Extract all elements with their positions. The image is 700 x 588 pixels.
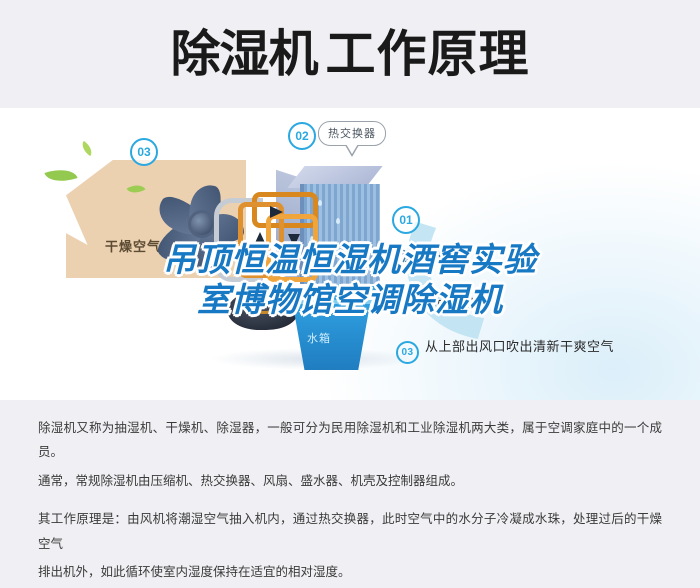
step-description-03-text: 从上部出风口吹出清新干爽空气 — [425, 339, 614, 354]
body-copy: 除湿机又称为抽湿机、干燥机、除湿器，一般可分为民用除湿机和工业除湿机两大类，属于… — [0, 400, 700, 588]
page-title-part2: 工作原理 — [326, 25, 530, 83]
step-badge-03: 03 — [130, 138, 158, 166]
flow-arrow-right-icon — [270, 206, 283, 218]
paragraph-gap — [38, 497, 662, 507]
step-badge-01: 01 — [392, 206, 420, 234]
compressor-ring — [246, 294, 282, 314]
step-description-02-text: 器冷凝成水珠 — [396, 297, 477, 312]
condensation-droplet-icon — [344, 248, 348, 254]
heat-exchanger-callout: 热交换器 — [318, 121, 386, 146]
dehumidifier-principle-illustration: 干燥空气 潮湿空气 水箱 03 02 01 热交换器 — [0, 108, 700, 400]
condensation-droplet-icon — [324, 264, 328, 270]
condensation-droplet-icon — [336, 218, 340, 224]
step-inline-badge-03: 03 — [396, 341, 419, 364]
paragraph-1-line-1: 除湿机又称为抽湿机、干燥机、除湿器，一般可分为民用除湿机和工业除湿机两大类，属于… — [38, 416, 662, 465]
step-badge-02: 02 — [288, 122, 316, 150]
paragraph-2-line-2: 排出机外，如此循环使室内湿度保持在适宜的相对湿度。 — [38, 560, 662, 584]
page-title-band: 除湿机工作原理 — [0, 0, 700, 108]
moist-air-label: 潮湿空气 — [388, 246, 444, 265]
step-description-03: 03从上部出风口吹出清新干爽空气 — [396, 336, 614, 364]
step-description-02: 器冷凝成水珠 — [396, 294, 477, 313]
paragraph-2-line-1: 其工作原理是：由风机将潮湿空气抽入机内，通过热交换器，此时空气中的水分子冷凝成水… — [38, 507, 662, 556]
water-tank-label: 水箱 — [307, 330, 331, 346]
flow-arrow-up-icon — [254, 232, 266, 245]
leaf-icon — [44, 164, 77, 188]
page-title-part1: 除湿机 — [171, 25, 318, 83]
copper-coil — [266, 214, 318, 282]
moist-air-inlet-arrow-icon — [338, 286, 386, 296]
fan-hub — [188, 210, 216, 238]
flow-arrow-down-icon — [288, 234, 300, 247]
leaf-icon — [79, 141, 96, 156]
paragraph-1-line-2: 通常，常规除湿机由压缩机、热交换器、风扇、盛水器、机壳及控制器组成。 — [38, 469, 662, 493]
page-title: 除湿机工作原理 — [171, 29, 530, 79]
condensation-droplet-icon — [318, 200, 322, 206]
refrigerant-coil-assembly — [232, 192, 318, 288]
